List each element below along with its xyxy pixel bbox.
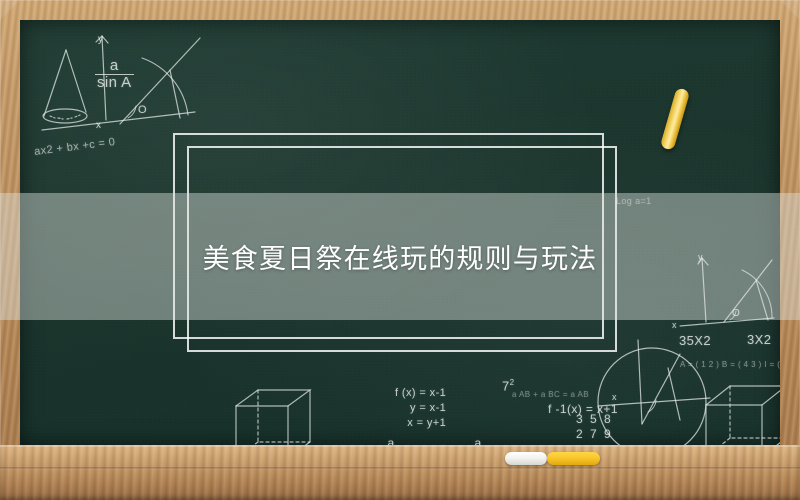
- chalk-vector-expression: a AB + a BC = a AB: [512, 390, 589, 399]
- chalk-quadratic-formula: ax2 + bx +c = 0: [34, 136, 116, 158]
- chalk-power-seven-base: 7: [502, 378, 510, 393]
- chalk-sum-row-1: 3 5 8: [576, 412, 613, 427]
- chalk-function-lines: f (x) = x-1 y = x-1 x = y+1: [395, 386, 446, 431]
- chalk-fraction-a-sina-bottomcenter: a sin A: [462, 437, 494, 445]
- chalk-matrix-set: A = ( 1 2 ) B = ( 4 3 ) I = ( 1 0 ): [680, 360, 780, 369]
- chalk-multiplication-1: 35X2: [679, 333, 711, 348]
- angle-construction-left: [42, 36, 200, 130]
- chalk-function-line-1: f (x) = x-1: [395, 386, 446, 401]
- chalk-axis-y-label-left: y: [98, 34, 103, 45]
- chalk-inverse-function: f -1(x) = x+1: [548, 402, 618, 416]
- cube-left-icon: [236, 390, 310, 445]
- yellow-chalk-on-board: [660, 87, 691, 150]
- chalk-fraction-a-sina-bottomleft: a sin A: [375, 437, 407, 445]
- chalk-axis-x-label-left: x: [96, 120, 101, 131]
- chalk-power-seven: 72: [502, 378, 515, 393]
- chalk-angle-label-left: O: [138, 104, 147, 116]
- chalk-axis-x-label-circle: x: [612, 392, 617, 402]
- chalk-sum-row-2: 2 7 9: [576, 427, 613, 442]
- chalk-axis-x-label-right: x: [672, 320, 677, 330]
- cone-icon: [43, 50, 87, 123]
- frame-corner-top-right: [780, 0, 800, 20]
- white-chalk-on-tray: [505, 452, 547, 465]
- chalk-sum-digits: 3 5 8 2 7 9 6 3 7: [576, 412, 613, 445]
- chalk-tray-ledge: [0, 445, 800, 500]
- chalk-function-line-3: x = y+1: [395, 416, 446, 431]
- chalk-multiplication-2: 3X2: [747, 332, 771, 347]
- cube-right-icon: [706, 386, 780, 445]
- chalk-fraction-numerator: a: [462, 437, 494, 445]
- page-title: 美食夏日祭在线玩的规则与玩法: [0, 193, 800, 320]
- ledge-lip: [0, 467, 800, 470]
- chalk-fraction-denominator: sin A: [95, 75, 134, 91]
- chalk-function-line-2: y = x-1: [395, 401, 446, 416]
- circle-axes-icon: [598, 340, 710, 445]
- chalk-fraction-numerator: a: [95, 58, 134, 75]
- chalkboard-banner-image: a sin A y x O ax2 + bx +c = 0 f (x) = x-…: [0, 0, 800, 500]
- frame-corner-top-left: [0, 0, 20, 20]
- chalk-fraction-a-sina-topleft: a sin A: [95, 58, 134, 91]
- chalk-fraction-numerator: a: [375, 437, 407, 445]
- yellow-chalk-on-tray: [547, 452, 600, 465]
- chalk-power-seven-exponent: 2: [510, 378, 515, 387]
